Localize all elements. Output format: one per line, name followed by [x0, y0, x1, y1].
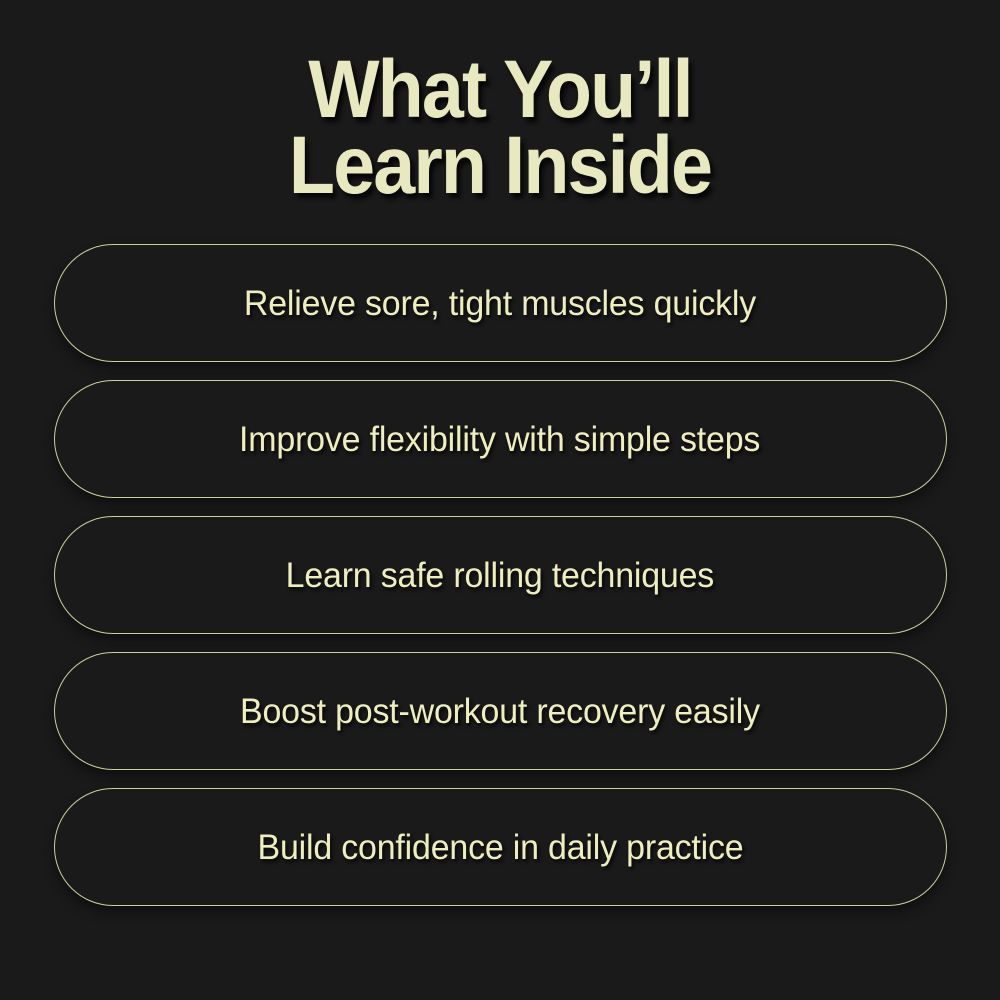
benefit-pill-2[interactable]: Improve flexibility with simple steps: [54, 380, 947, 498]
benefit-pill-3[interactable]: Learn safe rolling techniques: [54, 516, 947, 634]
benefit-pill-label: Build confidence in daily practice: [257, 830, 743, 865]
benefit-pill-4[interactable]: Boost post-workout recovery easily: [54, 652, 947, 770]
page-title: What You’ll Learn Inside: [0, 52, 1000, 204]
page-title-line-2: Learn Inside: [40, 128, 960, 204]
benefit-pill-label: Boost post-workout recovery easily: [240, 694, 760, 729]
benefit-pill-label: Learn safe rolling techniques: [286, 558, 714, 593]
benefit-pill-label: Improve flexibility with simple steps: [239, 422, 760, 457]
benefits-list: Relieve sore, tight muscles quickly Impr…: [54, 244, 947, 906]
promo-poster: What You’ll Learn Inside Relieve sore, t…: [0, 0, 1000, 1000]
benefit-pill-1[interactable]: Relieve sore, tight muscles quickly: [54, 244, 947, 362]
page-title-line-1: What You’ll: [40, 52, 960, 128]
benefit-pill-label: Relieve sore, tight muscles quickly: [244, 286, 756, 321]
benefit-pill-5[interactable]: Build confidence in daily practice: [54, 788, 947, 906]
